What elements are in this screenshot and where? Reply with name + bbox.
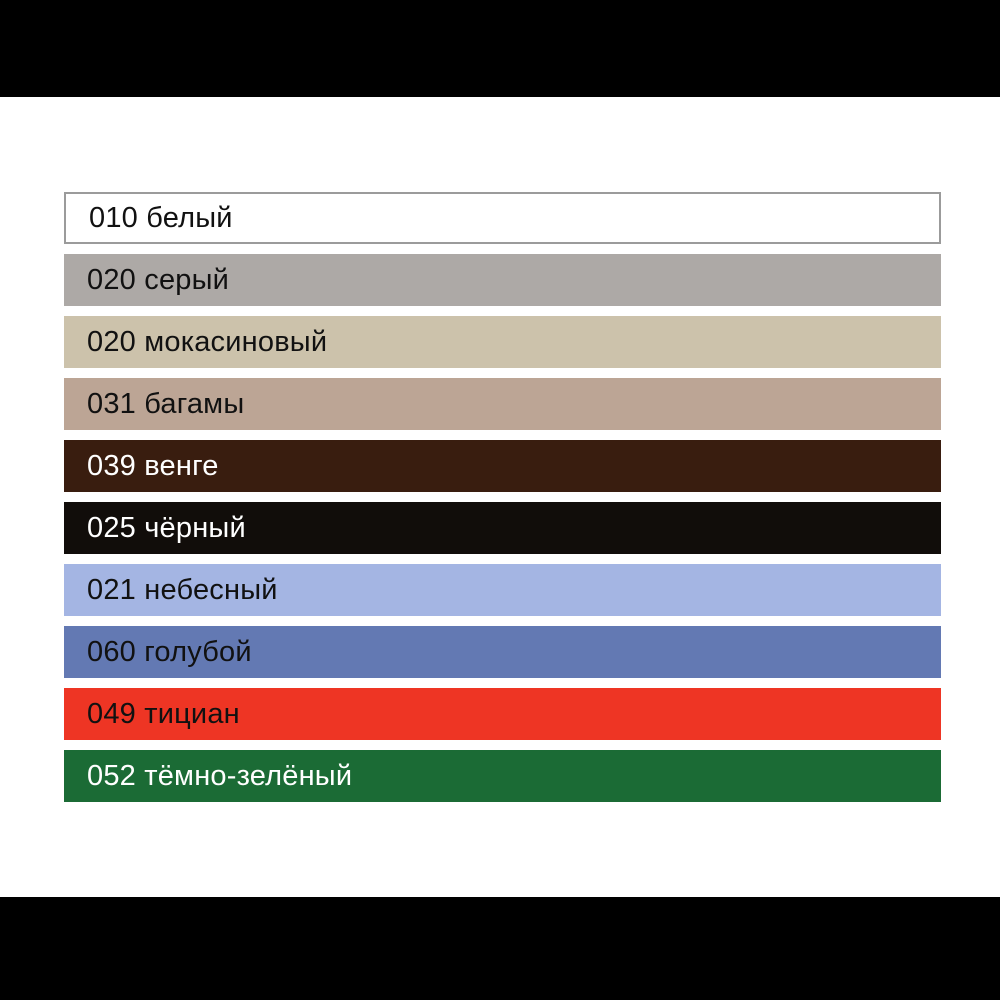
swatch-row[interactable]: 020 мокасиновый <box>64 316 941 368</box>
letterbox-bottom-bar <box>0 897 1000 1000</box>
swatch-row[interactable]: 010 белый <box>64 192 941 244</box>
swatch-label: 031 багамы <box>87 390 244 419</box>
swatch-row[interactable]: 031 багамы <box>64 378 941 430</box>
swatch-row[interactable]: 020 серый <box>64 254 941 306</box>
swatch-label: 060 голубой <box>87 638 252 667</box>
swatch-row[interactable]: 052 тёмно-зелёный <box>64 750 941 802</box>
swatch-label: 021 небесный <box>87 576 278 605</box>
swatch-label: 039 венге <box>87 452 219 481</box>
swatch-label: 020 мокасиновый <box>87 328 327 357</box>
swatch-label: 049 тициан <box>87 700 240 729</box>
color-swatch-list: 010 белый020 серый020 мокасиновый031 баг… <box>64 192 941 802</box>
swatch-label: 052 тёмно-зелёный <box>87 762 352 791</box>
letterbox-top-bar <box>0 0 1000 97</box>
swatch-row[interactable]: 021 небесный <box>64 564 941 616</box>
swatch-label: 020 серый <box>87 266 229 295</box>
swatch-row[interactable]: 039 венге <box>64 440 941 492</box>
swatch-row[interactable]: 025 чёрный <box>64 502 941 554</box>
swatch-row[interactable]: 049 тициан <box>64 688 941 740</box>
swatch-label: 025 чёрный <box>87 514 246 543</box>
swatch-row[interactable]: 060 голубой <box>64 626 941 678</box>
swatch-label: 010 белый <box>89 204 233 233</box>
page-root: 010 белый020 серый020 мокасиновый031 баг… <box>0 0 1000 1000</box>
content-stage: 010 белый020 серый020 мокасиновый031 баг… <box>0 97 1000 897</box>
